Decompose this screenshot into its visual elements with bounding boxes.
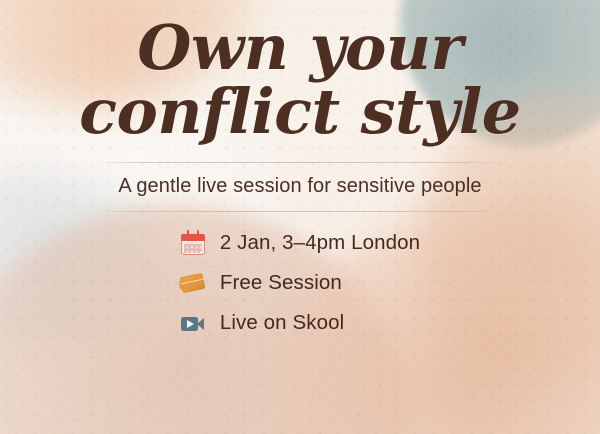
detail-label-date: 2 Jan, 3–4pm London bbox=[220, 231, 420, 255]
headline-line-2: conflict style bbox=[79, 80, 521, 144]
page-title: Own your conflict style bbox=[79, 0, 521, 144]
headline-line-1: Own your bbox=[79, 16, 521, 80]
promo-poster: Own your conflict style A gentle live se… bbox=[0, 0, 600, 434]
list-item: Free Session bbox=[180, 270, 342, 296]
calendar-icon bbox=[180, 230, 206, 256]
subtitle: A gentle live session for sensitive peop… bbox=[118, 163, 481, 211]
detail-label-price: Free Session bbox=[220, 271, 342, 295]
video-camera-icon bbox=[180, 310, 206, 336]
event-details-list: 2 Jan, 3–4pm London Free Session Live on… bbox=[180, 230, 420, 336]
divider-bottom bbox=[90, 211, 510, 212]
list-item: 2 Jan, 3–4pm London bbox=[180, 230, 420, 256]
ticket-icon bbox=[180, 270, 206, 296]
list-item: Live on Skool bbox=[180, 310, 344, 336]
detail-label-platform: Live on Skool bbox=[220, 311, 344, 335]
poster-content: Own your conflict style A gentle live se… bbox=[0, 0, 600, 434]
